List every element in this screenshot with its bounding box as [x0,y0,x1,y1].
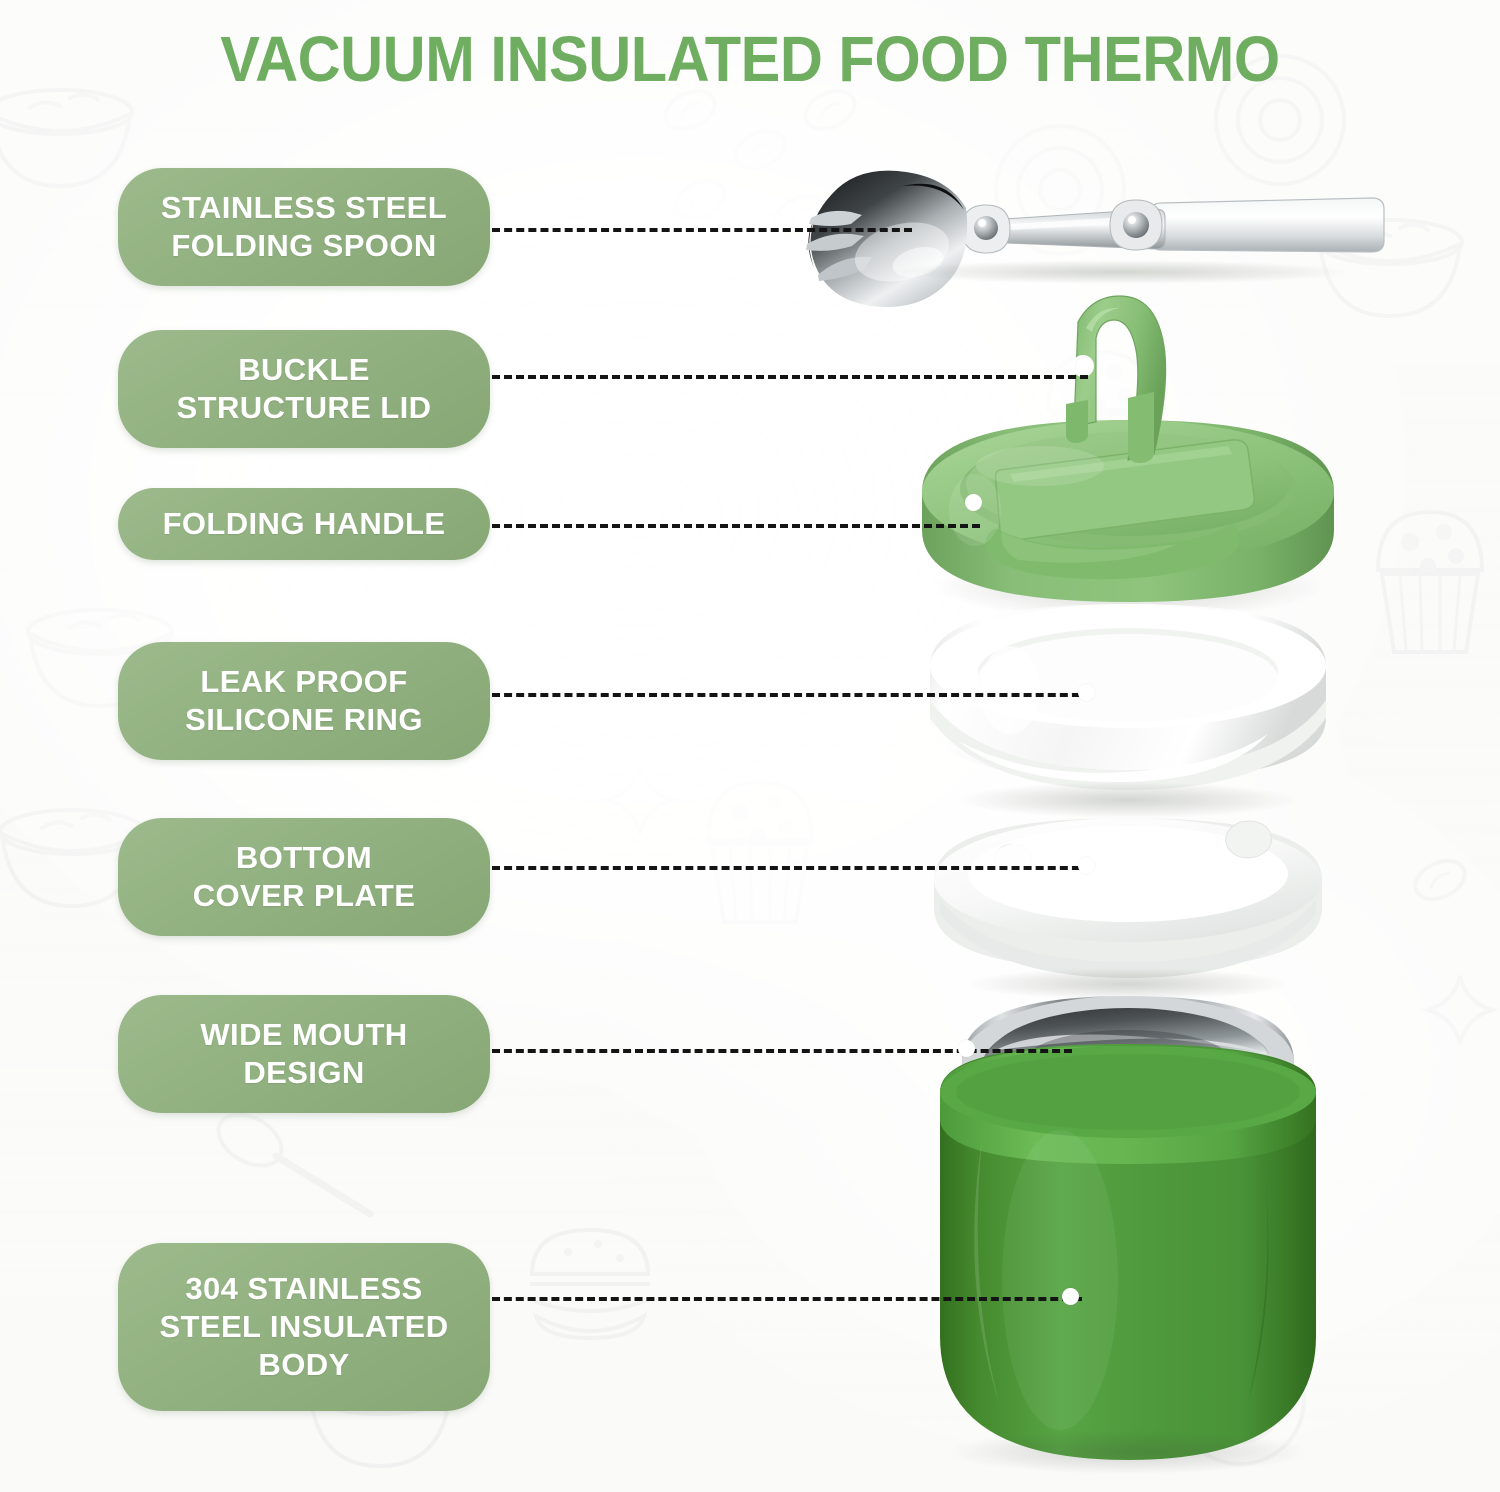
feature-pill-304-stainless-steel-insulated-body[interactable]: 304 STAINLESS STEEL INSULATED BODY [118,1243,490,1411]
marker-bottom-cover-plate [1078,857,1095,874]
marker-304-stainless-steel-insulated-body [1062,1288,1079,1305]
leader-line-folding-handle [492,524,980,528]
page-title: VACUUM INSULATED FOOD THERMO [53,26,1448,93]
leader-line-bottom-cover-plate [492,866,1092,870]
marker-folding-handle [965,494,982,511]
feature-label-304-stainless-steel-insulated-body: 304 STAINLESS STEEL INSULATED BODY [159,1270,448,1383]
leader-line-leak-proof-silicone-ring [492,693,1092,697]
cover-plate-art [934,818,1322,1000]
leader-line-wide-mouth-design [492,1049,1072,1053]
feature-label-bottom-cover-plate: BOTTOM COVER PLATE [193,839,416,915]
marker-wide-mouth-design [958,1040,975,1057]
buckle-lid-art [922,296,1334,620]
feature-pill-leak-proof-silicone-ring[interactable]: LEAK PROOF SILICONE RING [118,642,490,760]
leader-line-buckle-structure-lid [492,375,1088,379]
feature-pill-stainless-steel-folding-spoon[interactable]: STAINLESS STEEL FOLDING SPOON [118,168,490,286]
feature-label-stainless-steel-folding-spoon: STAINLESS STEEL FOLDING SPOON [161,189,447,265]
feature-label-folding-handle: FOLDING HANDLE [163,505,446,543]
feature-pill-buckle-structure-lid[interactable]: BUCKLE STRUCTURE LID [118,330,490,448]
feature-label-buckle-structure-lid: BUCKLE STRUCTURE LID [177,351,432,427]
feature-pill-wide-mouth-design[interactable]: WIDE MOUTH DESIGN [118,995,490,1113]
insulated-body-art [940,996,1316,1474]
feature-label-leak-proof-silicone-ring: LEAK PROOF SILICONE RING [185,663,423,739]
silicone-ring-art [930,604,1326,818]
marker-buckle-structure-lid [1076,357,1093,374]
feature-label-wide-mouth-design: WIDE MOUTH DESIGN [200,1016,407,1092]
leader-line-304-stainless-steel-insulated-body [492,1297,1082,1301]
folding-spork-art [806,171,1384,307]
infographic-canvas: VACUUM INSULATED FOOD THERMO STAINLESS S… [0,0,1500,1492]
leader-line-stainless-steel-folding-spoon [492,228,912,232]
feature-pill-folding-handle[interactable]: FOLDING HANDLE [118,488,490,560]
feature-pill-bottom-cover-plate[interactable]: BOTTOM COVER PLATE [118,818,490,936]
marker-leak-proof-silicone-ring [1078,684,1095,701]
